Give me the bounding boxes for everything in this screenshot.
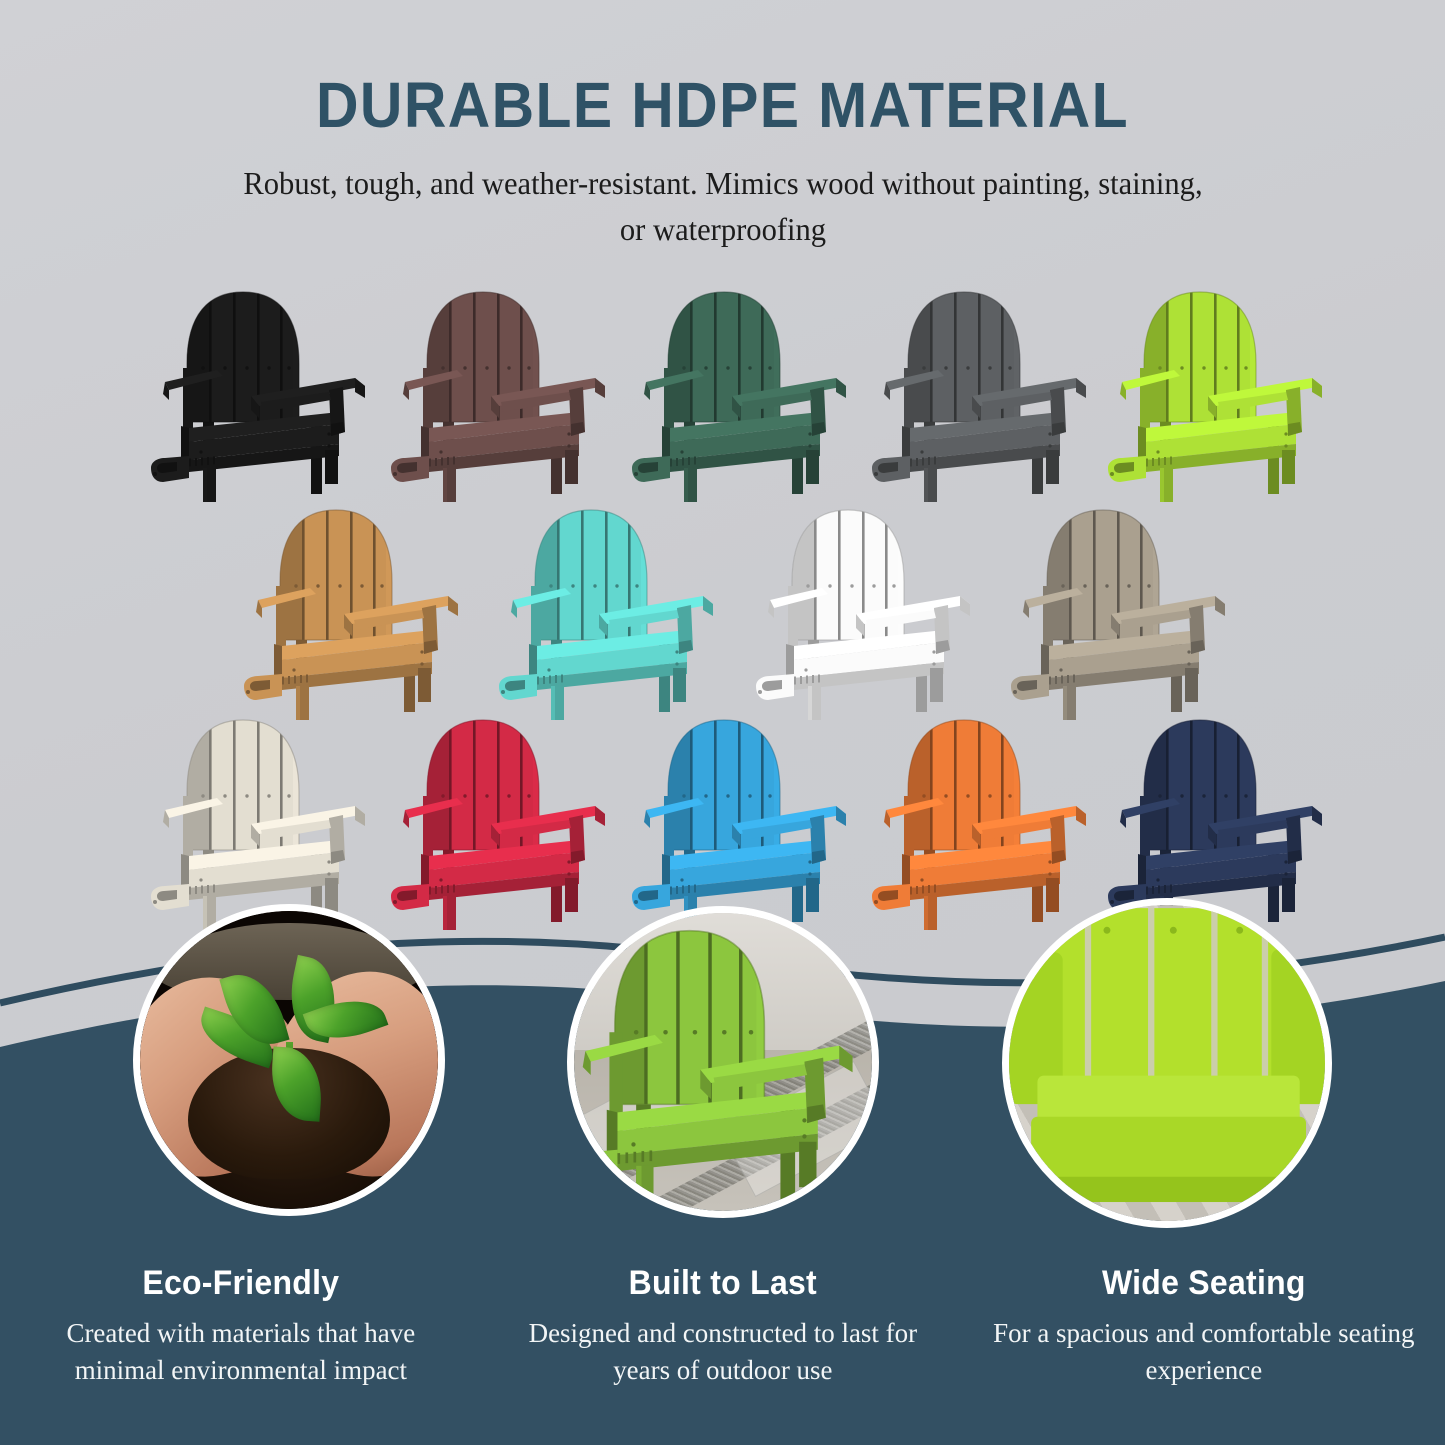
chair-swatch-blue[interactable]: [624, 700, 856, 932]
infographic-canvas: DURABLE HDPE MATERIAL Robust, tough, and…: [0, 0, 1445, 1445]
chair-swatch-white[interactable]: [748, 490, 980, 722]
header-block: DURABLE HDPE MATERIAL Robust, tough, and…: [0, 72, 1445, 253]
r1c2[interactable]: [748, 490, 980, 722]
feature-caption-1: Built to Last Designed and constructed t…: [482, 1264, 964, 1389]
feature-description: Designed and constructed to last for yea…: [504, 1315, 941, 1389]
r1c3[interactable]: [1003, 490, 1235, 722]
patio-chair-illustration: [574, 913, 866, 1211]
chair-swatch-red[interactable]: [383, 700, 615, 932]
r0c2[interactable]: [624, 272, 856, 504]
chair-swatch-orange[interactable]: [864, 700, 1096, 932]
r1c0[interactable]: [236, 490, 468, 722]
chair-swatch-dark-green[interactable]: [624, 272, 856, 504]
chair-swatch-teak[interactable]: [236, 490, 468, 722]
r1c1[interactable]: [491, 490, 723, 722]
feature-image-built-to-last: [567, 906, 879, 1218]
feature-image-eco-friendly: [133, 904, 445, 1216]
feature-captions: Eco-Friendly Created with materials that…: [0, 1264, 1445, 1389]
feature-description: Created with materials that have minimal…: [22, 1315, 459, 1389]
chair-swatch-black[interactable]: [143, 272, 375, 504]
feature-title: Built to Last: [513, 1264, 932, 1303]
chair-swatch-navy-blue[interactable]: [1100, 700, 1332, 932]
chair-swatch-gray[interactable]: [864, 272, 1096, 504]
feature-image-wide-seating: [1002, 898, 1332, 1228]
r2c2[interactable]: [624, 700, 856, 932]
feature-title: Eco-Friendly: [31, 1264, 450, 1303]
r0c3[interactable]: [864, 272, 1096, 504]
r0c4[interactable]: [1100, 272, 1332, 504]
feature-caption-0: Eco-Friendly Created with materials that…: [0, 1264, 482, 1389]
chair-swatch-brown[interactable]: [383, 272, 615, 504]
r0c0[interactable]: [143, 272, 375, 504]
r2c1[interactable]: [383, 700, 615, 932]
r0c1[interactable]: [383, 272, 615, 504]
seat-closeup-illustration: [1009, 905, 1325, 1221]
feature-description: For a spacious and comfortable seating e…: [986, 1315, 1423, 1389]
chair-swatch-lime-green[interactable]: [1100, 272, 1332, 504]
feature-caption-2: Wide Seating For a spacious and comforta…: [963, 1264, 1445, 1389]
r2c3[interactable]: [864, 700, 1096, 932]
page-subtitle: Robust, tough, and weather-resistant. Mi…: [238, 161, 1208, 252]
feature-title: Wide Seating: [995, 1264, 1414, 1303]
r2c4[interactable]: [1100, 700, 1332, 932]
chair-swatch-turquoise[interactable]: [491, 490, 723, 722]
chair-swatch-ivory[interactable]: [143, 700, 375, 932]
chair-swatch-weathered-wood[interactable]: [1003, 490, 1235, 722]
page-title: DURABLE HDPE MATERIAL: [58, 72, 1387, 139]
r2c0[interactable]: [143, 700, 375, 932]
